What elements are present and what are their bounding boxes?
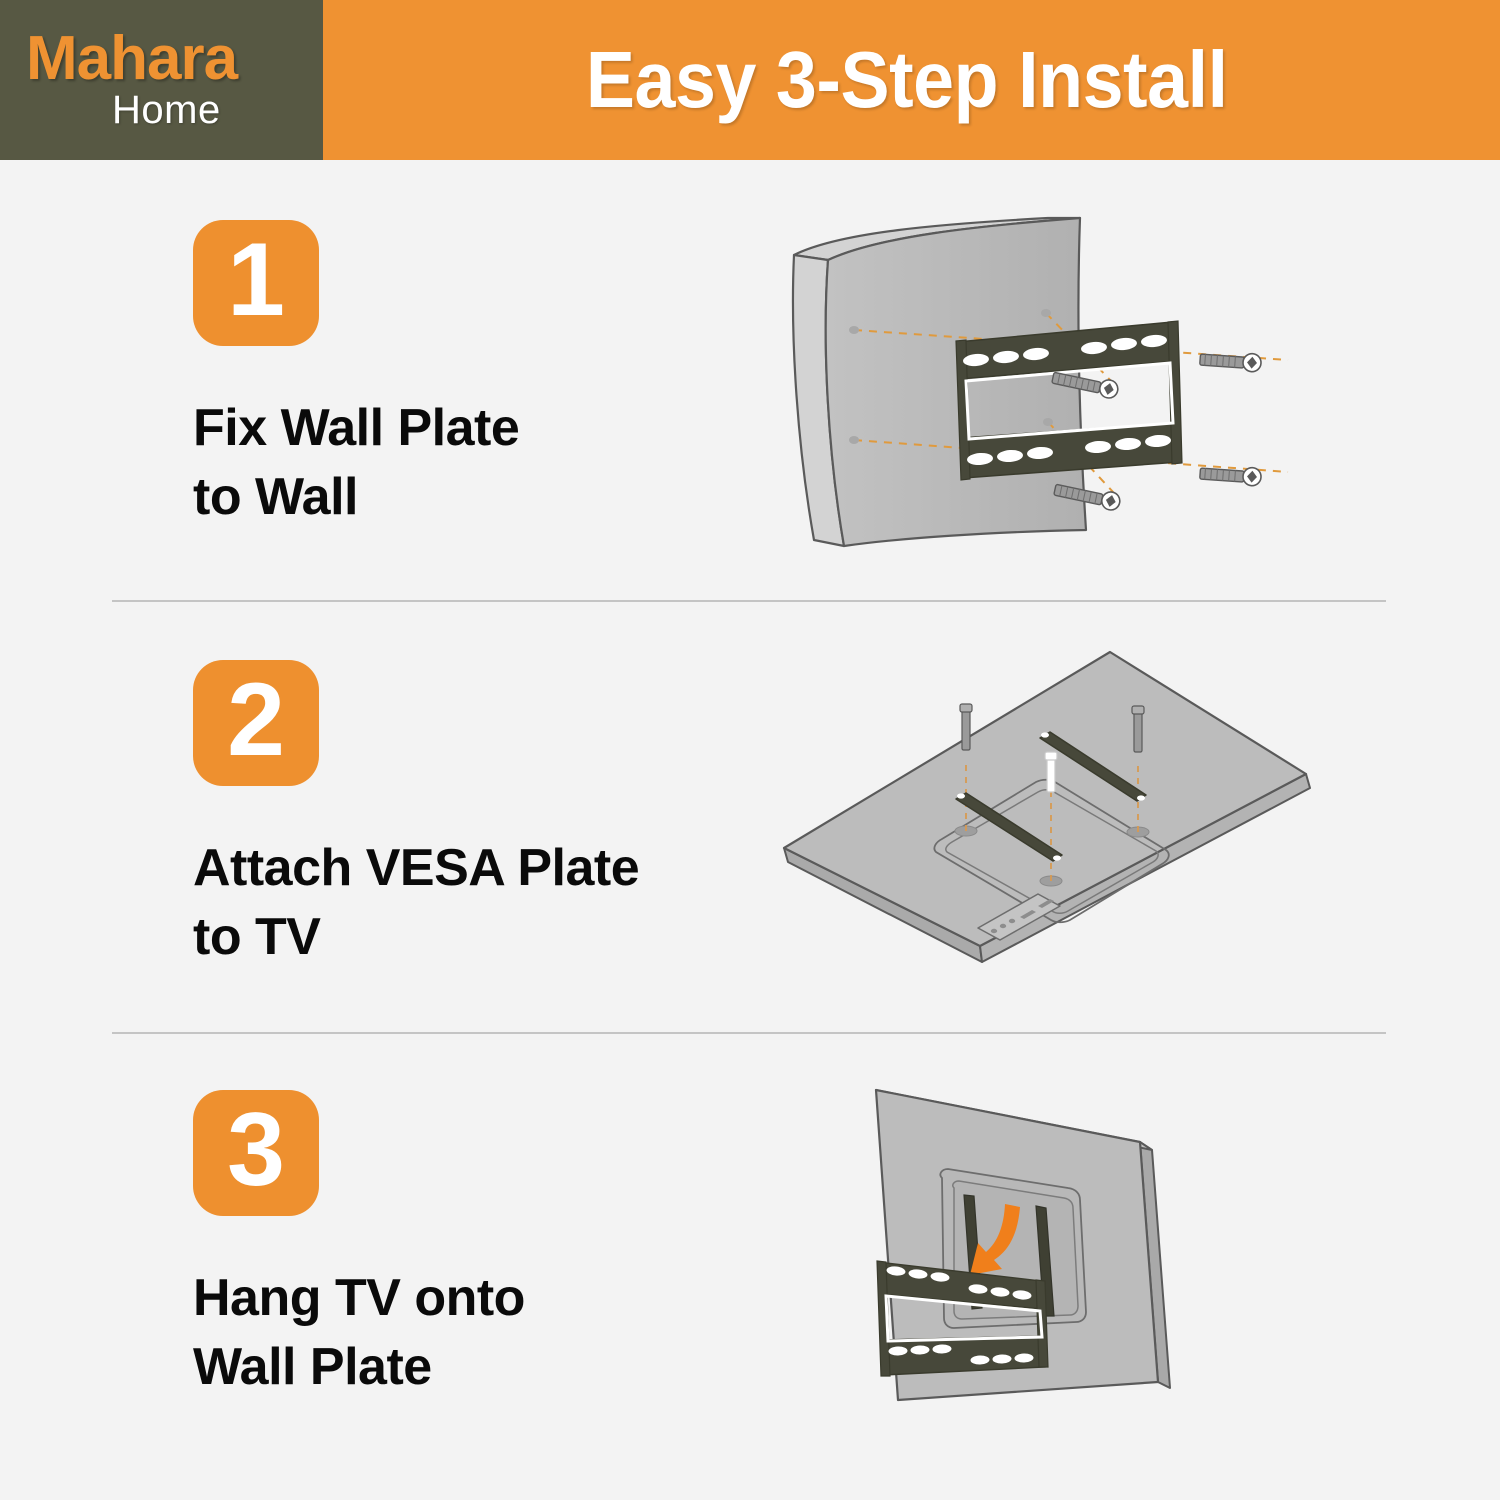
wall-plate-shape bbox=[877, 1261, 1048, 1376]
step-3: 3 Hang TV onto Wall Plate bbox=[0, 1090, 1500, 1500]
step-2-illustration-column bbox=[760, 660, 1500, 1090]
step-1-label: Fix Wall Plate to Wall bbox=[193, 394, 760, 531]
page-header: Mahara Home Easy 3-Step Install bbox=[0, 0, 1500, 160]
brand-name-primary: Mahara bbox=[26, 30, 237, 89]
step-2-label: Attach VESA Plate to TV bbox=[193, 834, 760, 971]
step-2-text-column: 2 Attach VESA Plate to TV bbox=[0, 660, 760, 1090]
step-1-text-column: 1 Fix Wall Plate to Wall bbox=[0, 220, 760, 650]
step-1-number-badge: 1 bbox=[193, 220, 319, 346]
steps-container: 1 Fix Wall Plate to Wall bbox=[0, 160, 1500, 1500]
step-2-number-badge: 2 bbox=[193, 660, 319, 786]
section-divider-1 bbox=[112, 600, 1386, 602]
step-2: 2 Attach VESA Plate to TV bbox=[0, 660, 1500, 1090]
wall-plate-on-wall-icon bbox=[780, 210, 1320, 550]
step-3-text-column: 3 Hang TV onto Wall Plate bbox=[0, 1090, 760, 1500]
wall-plate-shape bbox=[956, 321, 1182, 480]
step-3-illustration-column bbox=[760, 1090, 1500, 1500]
step-3-number-badge: 3 bbox=[193, 1090, 319, 1216]
step-1: 1 Fix Wall Plate to Wall bbox=[0, 220, 1500, 650]
header-title-container: Easy 3-Step Install bbox=[323, 0, 1500, 160]
hang-tv-onto-wall-plate-icon bbox=[850, 1070, 1290, 1460]
vesa-plate-on-tv-icon bbox=[770, 640, 1330, 970]
page-title: Easy 3-Step Install bbox=[586, 34, 1228, 126]
installation-guide-page: Mahara Home Easy 3-Step Install 1 Fix Wa… bbox=[0, 0, 1500, 1500]
brand-logo: Mahara Home bbox=[0, 0, 323, 160]
brand-name-secondary: Home bbox=[112, 90, 221, 130]
step-1-illustration-column bbox=[760, 220, 1500, 650]
step-3-label: Hang TV onto Wall Plate bbox=[193, 1264, 760, 1401]
section-divider-2 bbox=[112, 1032, 1386, 1034]
